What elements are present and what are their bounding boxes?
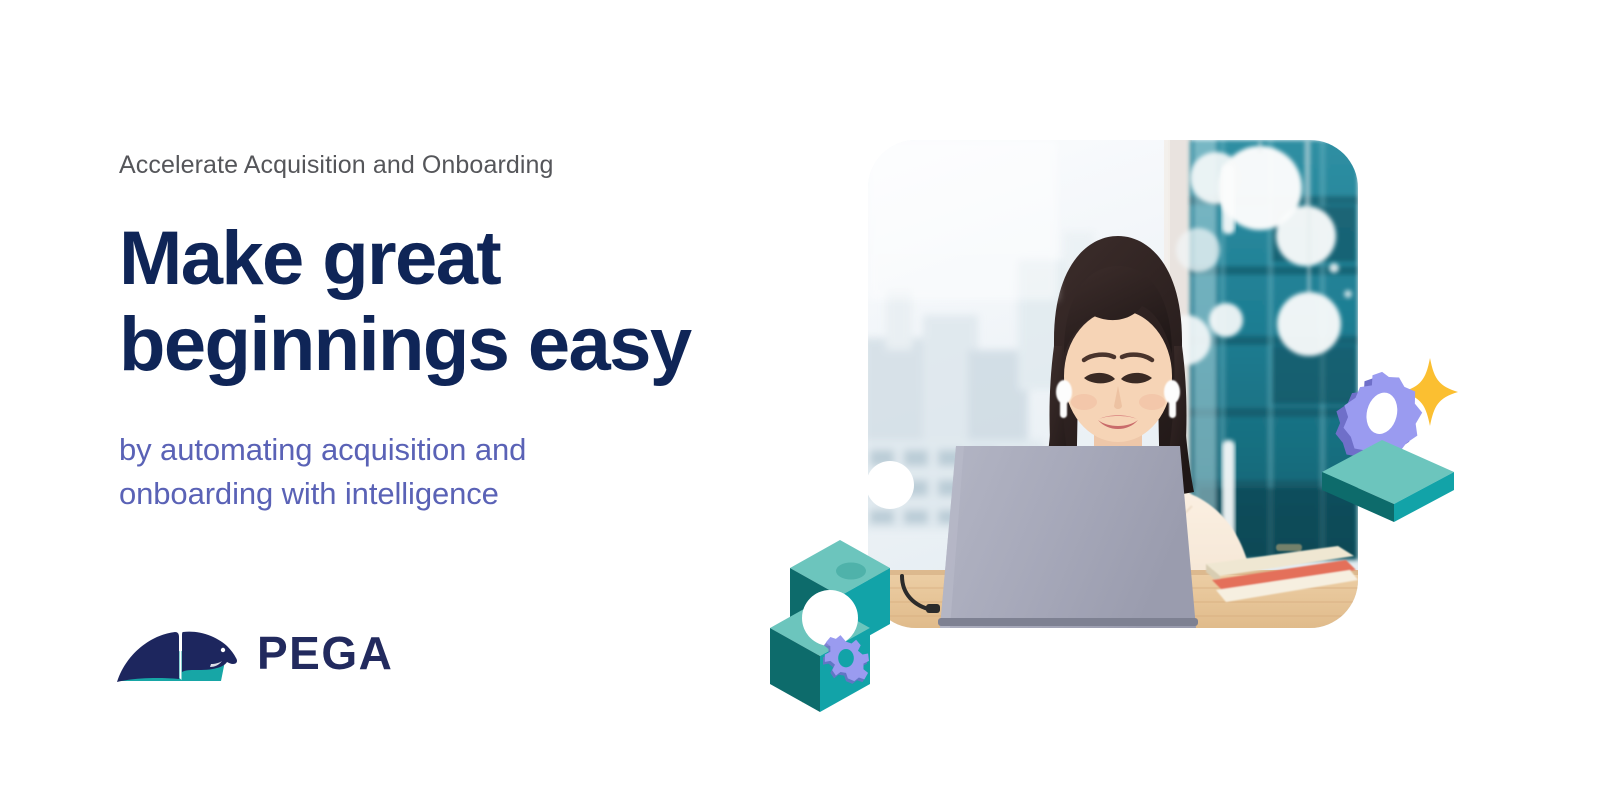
subheadline-text: by automating acquisition and onboarding… [119, 428, 639, 516]
hero-copy: Accelerate Acquisition and Onboarding Ma… [119, 148, 799, 516]
pega-wordmark: PEGA [257, 630, 393, 678]
headline-line-2: beginnings easy [119, 302, 691, 387]
hero-photo [868, 140, 1358, 628]
headline-line-1: Make great [119, 216, 500, 301]
sparkle-icon [784, 652, 822, 703]
white-sphere [802, 590, 858, 646]
gear-icon [823, 635, 869, 684]
white-circle-notch [866, 461, 914, 509]
page-title: Make great beginnings easy [119, 216, 799, 388]
sparkle-icon [1402, 358, 1458, 426]
iso-cube-lower [770, 600, 870, 712]
marketing-banner: Accelerate Acquisition and Onboarding Ma… [0, 0, 1600, 800]
pega-logo[interactable]: PEGA [115, 623, 393, 685]
eyebrow-text: Accelerate Acquisition and Onboarding [119, 148, 799, 182]
pega-horse-icon [115, 623, 243, 685]
